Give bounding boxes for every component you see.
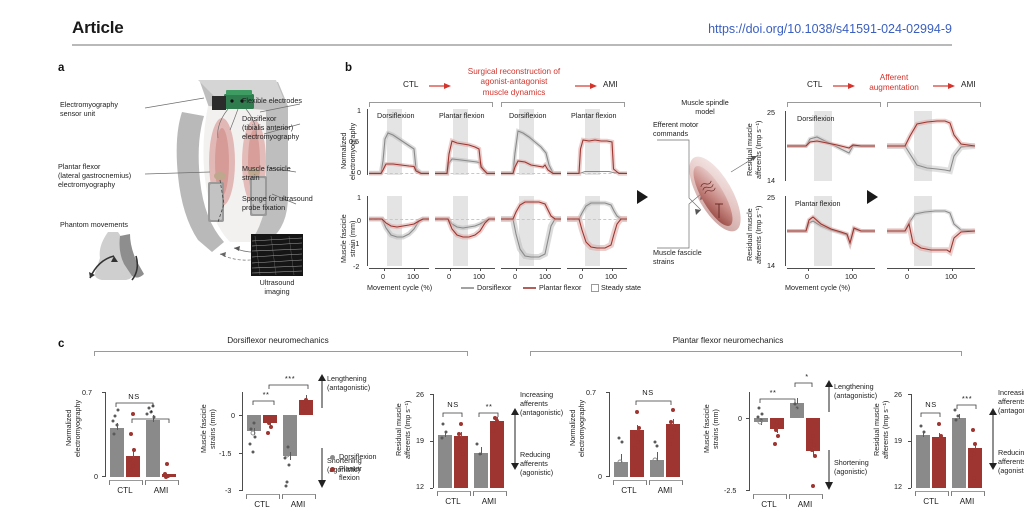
c5-ytick-0: 0 xyxy=(738,414,742,423)
annotation-flexible-electrodes: Flexible electrodes xyxy=(242,96,322,105)
b-plot-ctl-emg-dorsiflexion: Dorsiflexion xyxy=(369,109,429,175)
group-bracket-plantar-flexor xyxy=(530,351,962,356)
series-curves xyxy=(501,109,561,175)
flow-left-arrow-1 xyxy=(429,82,453,90)
legend-steady-state-swatch xyxy=(591,284,599,292)
annotation-lengthening: Lengthening(antagonistic) xyxy=(327,374,397,392)
c5-xtick-ctl: CTL xyxy=(753,500,785,510)
sig-bracket-3star xyxy=(957,404,979,410)
c1-xgroup-ami xyxy=(145,480,179,485)
b-xtick xyxy=(480,268,481,271)
b-afferent-ytick-25-b: 25 xyxy=(767,193,775,202)
c2-datapoints xyxy=(242,392,322,492)
flow-left-middle: Surgical reconstruction ofagonist-antago… xyxy=(457,67,571,98)
c6-ytick-12: 12 xyxy=(894,482,902,491)
b-plot-ami-emg-plantarflexion: Plantar flexion xyxy=(567,109,627,175)
sig-label-ns: NS xyxy=(628,388,668,397)
b-xtick-label-0: 0 xyxy=(805,272,809,281)
panel-b: b CTL Surgical reconstruction ofagonist-… xyxy=(345,62,1015,312)
b-xtick xyxy=(450,268,451,271)
series-curves xyxy=(567,196,627,266)
page-title: Article xyxy=(72,18,124,38)
b-plot-ctl-emg-plantarflexion: Plantar flexion xyxy=(435,109,495,175)
b-plot-ami-strain-dorsiflexion xyxy=(501,196,561,266)
b-xaxis-4 xyxy=(567,268,627,269)
b-xtick xyxy=(516,268,517,271)
c4-datapoints xyxy=(609,384,694,484)
b-emg-ytick-05: 0.5 xyxy=(349,137,359,146)
panel-b-label: b xyxy=(345,62,352,74)
c6-xgroup-ctl xyxy=(915,491,949,496)
b-plot-ami-emg-dorsiflexion: Dorsiflexion xyxy=(501,109,561,175)
b-afferent-ytick-14-b: 14 xyxy=(767,261,775,270)
annotation-phantom-movements: Phantom movements xyxy=(60,220,156,229)
b-emg-ylabel: Normalizedelectromyography xyxy=(339,108,357,194)
group-title-plantar-flexor: Plantar flexor neuromechanics xyxy=(618,336,838,346)
c6-xtick-ami: AMI xyxy=(951,497,983,507)
sig-label-2star: ** xyxy=(758,388,788,397)
sig-label-ns: NS xyxy=(438,400,468,409)
b-afferent-ytick-14-a: 14 xyxy=(767,176,775,185)
b-xtick-label-0: 0 xyxy=(513,272,517,281)
sig-label-ns: NS xyxy=(916,400,946,409)
b-strain-ytick-m1: -1 xyxy=(353,239,359,248)
c4-xgroup-ctl xyxy=(613,480,647,485)
b-afferent-xaxis-2 xyxy=(887,268,975,269)
sig-bracket-2star xyxy=(479,412,501,418)
series-curves xyxy=(787,111,875,181)
b-afferent-ytick-25-a: 25 xyxy=(767,108,775,117)
sig-bracket-ns xyxy=(443,412,465,418)
b-plot-ctl-strain-dorsiflexion xyxy=(369,196,429,266)
b-xtick-label-100: 100 xyxy=(845,272,857,281)
b-xtick xyxy=(384,268,385,271)
c4-xtick-ctl: CTL xyxy=(613,486,645,496)
c5-xgroup-ami xyxy=(789,494,823,499)
sig-bracket-star xyxy=(132,418,172,424)
b-xtick-label-100: 100 xyxy=(473,272,485,281)
group-bracket-dorsiflexor xyxy=(94,351,468,356)
series-curves xyxy=(369,196,429,266)
b-xtick-label-100: 100 xyxy=(605,272,617,281)
b-xtick-label-0: 0 xyxy=(905,272,909,281)
c2-xtick-ami: AMI xyxy=(282,500,314,510)
b-plot-ami-afferents-dorsiflexion xyxy=(887,111,975,181)
legend-label-dorsiflexion: Dorsiflexion xyxy=(339,452,377,461)
sig-bracket-ns xyxy=(921,412,943,418)
legend-label-plantar-flexion: Plantar flexion xyxy=(339,464,362,482)
c3-xtick-ctl: CTL xyxy=(437,497,469,507)
annotation-emg-sensor-unit: Electromyographysensor unit xyxy=(60,100,144,118)
lengthening-arrow xyxy=(824,380,834,412)
series-curves xyxy=(787,196,875,266)
sig-bracket-ns xyxy=(636,400,674,406)
series-curves xyxy=(887,196,975,266)
c3-ytick-12: 12 xyxy=(416,482,424,491)
sig-bracket-2star xyxy=(253,400,277,406)
sig-label-2star: ** xyxy=(251,390,281,399)
group-bracket-afferent-ami xyxy=(887,102,981,107)
flow-right-arrow-2 xyxy=(933,82,957,90)
b-xtick-label-100: 100 xyxy=(539,272,551,281)
shortening-arrow xyxy=(317,448,327,488)
b-emg-ytick-0: 0 xyxy=(357,168,361,177)
b-strain-yaxis xyxy=(367,196,368,266)
sig-label-3star: *** xyxy=(267,374,313,383)
panel-c-label: c xyxy=(58,338,64,350)
sig-label-2star: ** xyxy=(476,402,502,411)
b-afferent-yaxis-b xyxy=(785,196,786,266)
series-curves xyxy=(369,109,429,175)
c1-xtick-ami: AMI xyxy=(145,486,177,496)
b-xlabel-right: Movement cycle (%) xyxy=(785,283,850,292)
b-afferent-ylabel-2: Residual muscleafferents (Imp s⁻¹) xyxy=(745,195,763,275)
b-xtick xyxy=(952,268,953,271)
section-arrow-2 xyxy=(867,190,879,204)
c4-ylabel: Normalizedelectromyography xyxy=(568,390,586,466)
c1-ylabel: Normalizedelectromyography xyxy=(64,390,82,466)
legend-label-plantar-flexor: Plantar flexor xyxy=(539,283,581,292)
flow-left-to: AMI xyxy=(603,80,618,90)
flow-right-from: CTL xyxy=(807,80,822,90)
chart-c3-dorsi-afferents: Residual muscleafferents (Imp s⁻¹) 26 19… xyxy=(388,364,548,504)
c5-xtick-ami: AMI xyxy=(789,500,821,510)
c3-xgroup-ami xyxy=(473,491,507,496)
sig-bracket-3star xyxy=(269,384,311,390)
c2-ylabel: Muscle fasciclestrains (mm) xyxy=(199,390,217,468)
b-xaxis-1 xyxy=(369,268,429,269)
b-xlabel-left: Movement cycle (%) xyxy=(367,283,432,292)
b-plot-ami-afferents-plantarflexion xyxy=(887,196,975,266)
chart-c6-plantar-afferents: Residual muscleafferents (Imp s⁻¹) 26 19… xyxy=(868,364,1024,504)
c1-ytick-bottom: 0 xyxy=(94,472,98,481)
annotation-dorsiflexor-emg: Dorsiflexor(tibialis anterior)electromyo… xyxy=(242,114,316,141)
b-xtick-label-0: 0 xyxy=(381,272,385,281)
c1-xgroup-ctl xyxy=(109,480,143,485)
c6-datapoints xyxy=(911,394,996,494)
c6-ytick-26: 26 xyxy=(894,390,902,399)
c2-ytick-m15: -1.5 xyxy=(219,449,231,458)
b-xtick-label-0: 0 xyxy=(579,272,583,281)
annotation-ultrasound-imaging: Ultrasoundimaging xyxy=(244,278,310,296)
legend-dot-plantar-flexion xyxy=(330,467,335,472)
b-afferent-ylabel-1: Residual muscleafferents (Imp s⁻¹) xyxy=(745,110,763,190)
legend-label-dorsiflexor: Dorsiflexor xyxy=(477,283,511,292)
chart-c4-plantar-emg: Normalizedelectromyography 0.7 0 xyxy=(548,364,688,504)
afferents-range-arrow xyxy=(510,408,520,470)
legend-plantar-flexor-line xyxy=(523,285,537,291)
c4-ytick-bottom: 0 xyxy=(598,472,602,481)
c2-xgroup-ami xyxy=(282,494,316,499)
b-emg-ytick-1: 1 xyxy=(357,106,361,115)
group-bracket-ami xyxy=(501,102,625,107)
c6-xgroup-ami xyxy=(951,491,985,496)
annotation-sponge-probe: Sponge for ultrasoundprobe fixation xyxy=(242,194,324,212)
sig-label-3star: *** xyxy=(952,394,982,403)
b-xtick xyxy=(546,268,547,271)
c3-xgroup-ctl xyxy=(437,491,471,496)
b-xtick xyxy=(808,268,809,271)
afferents-range-arrow xyxy=(988,408,998,470)
lengthening-arrow xyxy=(317,374,327,408)
c1-xtick-ctl: CTL xyxy=(109,486,141,496)
c3-xtick-ami: AMI xyxy=(473,497,505,507)
b-xtick xyxy=(852,268,853,271)
series-curves xyxy=(435,109,495,175)
c5-ylabel: Muscle fasciclestrains (mm) xyxy=(702,390,720,468)
series-curves xyxy=(887,111,975,181)
c5-datapoints xyxy=(749,392,834,492)
b-plot-ctl-strain-plantarflexion xyxy=(435,196,495,266)
c3-ytick-19: 19 xyxy=(416,436,424,445)
sig-bracket-star xyxy=(795,382,815,388)
panel-c: c Dorsiflexor neuromechanics Plantar fle… xyxy=(58,336,1018,506)
b-xtick xyxy=(414,268,415,271)
flow-right-middle: Afferentaugmentation xyxy=(859,73,929,94)
legend-dot-dorsiflexion xyxy=(330,455,335,460)
sig-label-star: * xyxy=(792,372,822,381)
b-xtick xyxy=(612,268,613,271)
b-emg-yaxis xyxy=(367,109,368,175)
series-curves xyxy=(567,109,627,175)
b-xtick xyxy=(582,268,583,271)
b-strain-ytick-1: 1 xyxy=(357,193,361,202)
flow-right-arrow-1 xyxy=(833,82,857,90)
b-plot-ctl-afferents-dorsiflexion: Dorsiflexion xyxy=(787,111,875,181)
legend-label-steady-state: Steady state xyxy=(601,283,641,292)
b-plot-ctl-afferents-plantarflexion: Plantar flexion xyxy=(787,196,875,266)
header-divider xyxy=(72,44,952,46)
doi-link[interactable]: https://doi.org/10.1038/s41591-024-02994… xyxy=(708,22,952,36)
chart-c5-plantar-strain: Muscle fasciclestrains (mm) 0 -2.5 xyxy=(698,364,858,504)
annotation-reducing-afferents: Reducingafferents(agonistic) xyxy=(998,448,1024,475)
c3-ylabel: Residual muscleafferents (Imp s⁻¹) xyxy=(394,390,412,470)
c2-ytick-0: 0 xyxy=(231,411,235,420)
panel-a: a xyxy=(58,62,358,312)
b-xtick-label-100: 100 xyxy=(945,272,957,281)
sig-label-ns: NS xyxy=(114,392,154,401)
flow-left-arrow-2 xyxy=(575,82,599,90)
c6-ylabel: Residual muscleafferents (Imp s⁻¹) xyxy=(872,390,890,470)
b-xaxis-3 xyxy=(501,268,561,269)
c5-ytick-m25: -2.5 xyxy=(724,486,736,495)
b-xaxis-2 xyxy=(435,268,495,269)
series-curves xyxy=(501,196,561,266)
b-xtick xyxy=(908,268,909,271)
c1-ytick-top: 0.7 xyxy=(82,388,92,397)
annotation-increasing-afferents: Increasingafferents(antagonistic) xyxy=(998,388,1024,415)
c4-ytick-top: 0.7 xyxy=(586,388,596,397)
group-title-dorsiflexor: Dorsiflexor neuromechanics xyxy=(178,336,378,346)
c2-xgroup-ctl xyxy=(246,494,280,499)
flow-left-from: CTL xyxy=(403,80,418,90)
c2-xtick-ctl: CTL xyxy=(246,500,278,510)
shortening-arrow xyxy=(824,450,834,490)
c6-xtick-ctl: CTL xyxy=(915,497,947,507)
c6-ytick-19: 19 xyxy=(894,436,902,445)
b-afferent-xaxis-1 xyxy=(787,268,875,269)
c3-ytick-26: 26 xyxy=(416,390,424,399)
chart-c1-dorsi-emg: Normalizedelectromyography 0.7 0 xyxy=(58,364,188,504)
b-afferent-yaxis-a xyxy=(785,111,786,181)
annotation-muscle-fascicle-strain: Muscle fasciclestrain xyxy=(242,164,312,182)
legend-dorsiflexor-line xyxy=(461,285,475,291)
group-bracket-afferent-ctl xyxy=(787,102,881,107)
c4-xgroup-ami xyxy=(649,480,683,485)
c5-xgroup-ctl xyxy=(753,494,787,499)
annotation-plantar-flexor-emg: Plantar flexor(lateral gastrocnemius)ele… xyxy=(58,162,146,189)
spindle-model-title: Muscle spindlemodel xyxy=(663,98,747,116)
b-strain-ytick-0: 0 xyxy=(357,216,361,225)
c2-ytick-m3: -3 xyxy=(225,486,231,495)
chart-c2-dorsi-strain: Muscle fasciclestrains (mm) 0 -1.5 -3 xyxy=(193,364,343,504)
c4-xtick-ami: AMI xyxy=(649,486,681,496)
b-xtick-label-0: 0 xyxy=(447,272,451,281)
b-strain-ytick-m2: -2 xyxy=(353,262,359,271)
b-plot-ami-strain-plantarflexion xyxy=(567,196,627,266)
group-bracket-ctl xyxy=(369,102,493,107)
sig-bracket-2star xyxy=(760,398,798,404)
b-xtick-label-100: 100 xyxy=(407,272,419,281)
series-curves xyxy=(435,196,495,266)
flow-right-to: AMI xyxy=(961,80,976,90)
sig-label-star: * xyxy=(132,408,172,417)
